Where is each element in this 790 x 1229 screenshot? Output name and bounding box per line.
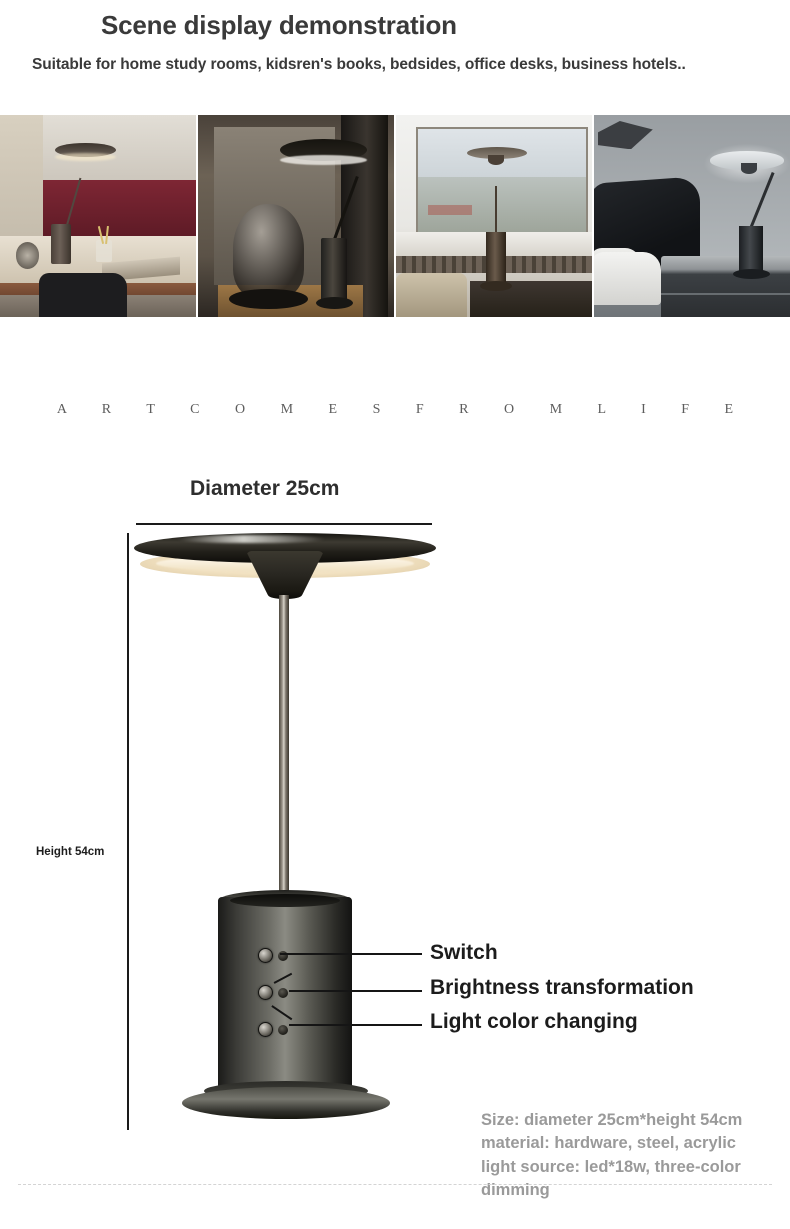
photo4-pillow-front: [594, 252, 661, 305]
height-measure-line: [127, 533, 129, 1130]
product-dimension-diagram: Diameter 25cm Height 54cm Size: diameter…: [0, 460, 790, 1160]
scene-photo-1-study-desk[interactable]: [0, 115, 196, 317]
lamp-illustration: [130, 533, 450, 1133]
lamp-foot-disc: [182, 1087, 390, 1119]
page-title: Scene display demonstration: [101, 10, 457, 41]
diameter-label: Diameter 25cm: [190, 477, 339, 501]
photo4-lamp-cone: [741, 163, 757, 173]
lamp-cone-connector: [246, 551, 324, 595]
color-button[interactable]: [258, 1022, 273, 1037]
callout-leader-line-2: [289, 990, 422, 992]
photo3-red-roof: [428, 205, 472, 216]
photo1-office-chair: [39, 273, 127, 317]
brightness-button-indicator: [278, 988, 288, 998]
scene-photo-2-night-closeup[interactable]: [198, 115, 394, 317]
photo2-glass-dome: [233, 204, 304, 297]
diameter-measure-line: [136, 523, 432, 525]
color-button-indicator: [278, 1025, 288, 1035]
lamp-base-rim-inner: [230, 894, 340, 907]
photo4-nightstand-seam: [661, 293, 790, 295]
power-button[interactable]: [258, 948, 273, 963]
callout-leader-line-1: [280, 953, 422, 955]
section-divider: [18, 1184, 772, 1185]
photo4-lamp-base: [739, 226, 763, 272]
brightness-button[interactable]: [258, 985, 273, 1000]
height-label: Height 54cm: [36, 846, 104, 858]
callout-leader-line-3: [289, 1024, 422, 1026]
callout-label-brightness: Brightness transformation: [430, 976, 694, 1000]
photo1-desk-speaker: [16, 242, 40, 268]
callout-label-switch: Switch: [430, 941, 498, 965]
brand-tagline: A R T C O M E S F R O M L I F E: [0, 402, 790, 418]
photo2-lamp-base: [321, 238, 346, 303]
specification-text: Size: diameter 25cm*height 54cm material…: [481, 1109, 763, 1203]
lamp-base-cylinder: [218, 897, 352, 1109]
scene-photo-gallery: [0, 115, 790, 317]
photo2-dome-base: [229, 289, 307, 309]
photo4-lamp-foot: [733, 269, 770, 279]
photo3-lamp-base: [486, 232, 506, 285]
lamp-stem-pole: [279, 595, 289, 907]
lamp-shade-highlight: [176, 535, 326, 543]
photo3-lamp-foot: [480, 281, 511, 291]
scene-photo-3-window-view[interactable]: [396, 115, 592, 317]
photo4-nightstand: [661, 256, 790, 317]
callout-label-light-color: Light color changing: [430, 1010, 638, 1034]
photo3-armchair: [396, 273, 467, 317]
photo2-lamp-foot: [316, 297, 353, 309]
scene-photo-4-bedside[interactable]: [594, 115, 790, 317]
photo3-window-frame: [416, 127, 589, 236]
photo3-lamp-stem: [495, 186, 497, 234]
photo1-lamp-base: [51, 224, 71, 264]
page-subtitle: Suitable for home study rooms, kidsren's…: [32, 56, 686, 74]
page-header: Scene display demonstration Suitable for…: [0, 0, 790, 115]
